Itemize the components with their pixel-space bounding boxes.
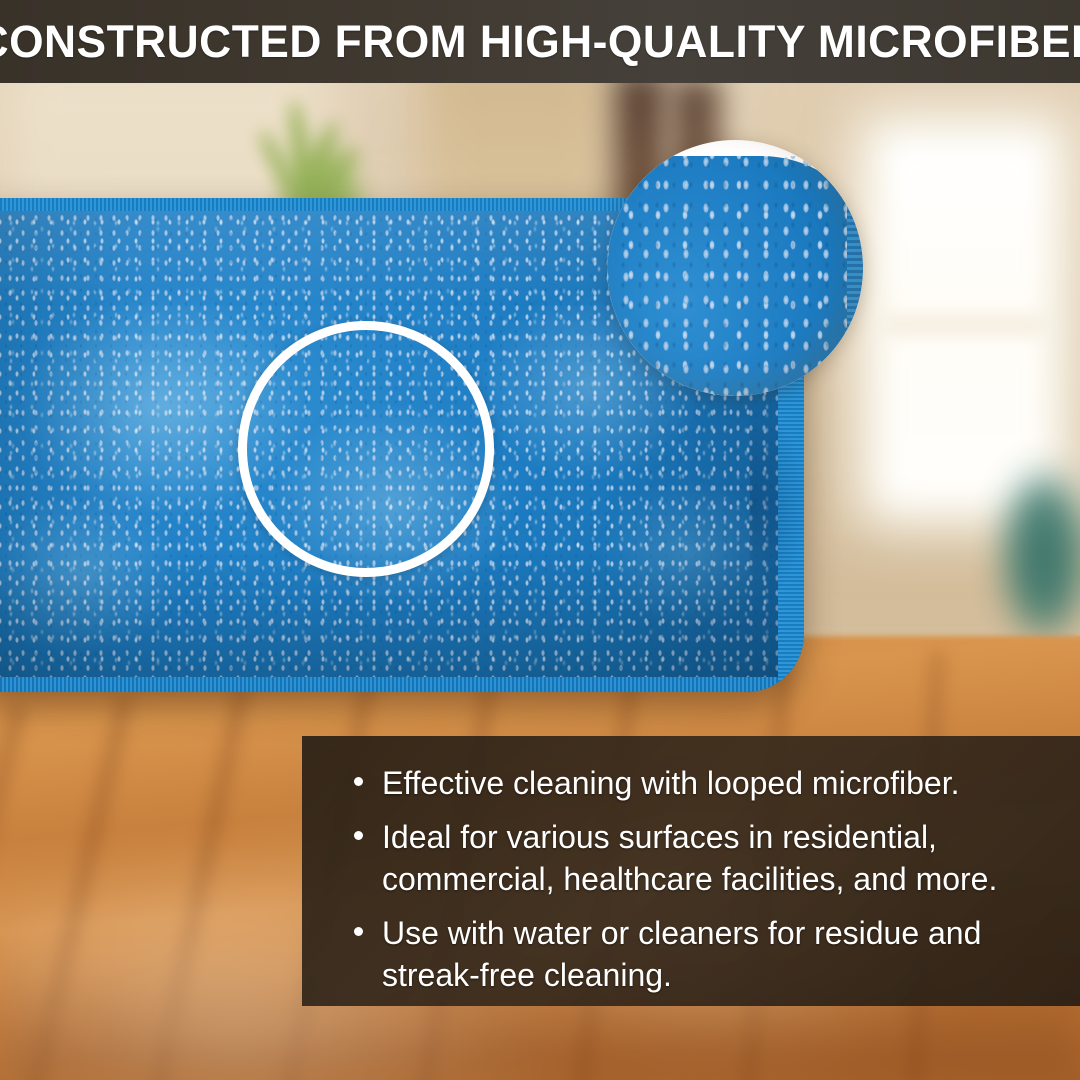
- product-feature-image: CONSTRUCTED FROM HIGH-QUALITY MICROFIBER…: [0, 0, 1080, 1080]
- page-title: CONSTRUCTED FROM HIGH-QUALITY MICROFIBER: [0, 16, 1080, 68]
- list-item-label: Ideal for various surfaces in residentia…: [382, 819, 997, 898]
- list-item: Ideal for various surfaces in residentia…: [354, 816, 1050, 901]
- corner-zoom-disc: [607, 140, 863, 396]
- bullet-dot-icon: [354, 927, 363, 936]
- bullet-dot-icon: [354, 831, 363, 840]
- feature-list-box: Effective cleaning with looped microfibe…: [302, 736, 1080, 1006]
- mop-pad-binding-bottom: [0, 677, 804, 692]
- header-banner: CONSTRUCTED FROM HIGH-QUALITY MICROFIBER: [0, 0, 1080, 83]
- disc-inner-shadow: [607, 140, 863, 396]
- list-item: Effective cleaning with looped microfibe…: [354, 762, 1050, 805]
- list-item-label: Use with water or cleaners for residue a…: [382, 915, 981, 994]
- feature-list: Effective cleaning with looped microfibe…: [354, 762, 1050, 997]
- list-item: Use with water or cleaners for residue a…: [354, 912, 1050, 997]
- texture-zoom-ring: [238, 321, 494, 577]
- bullet-dot-icon: [354, 777, 363, 786]
- mop-pad-corner-shadow: [750, 405, 804, 605]
- list-item-label: Effective cleaning with looped microfibe…: [382, 765, 960, 801]
